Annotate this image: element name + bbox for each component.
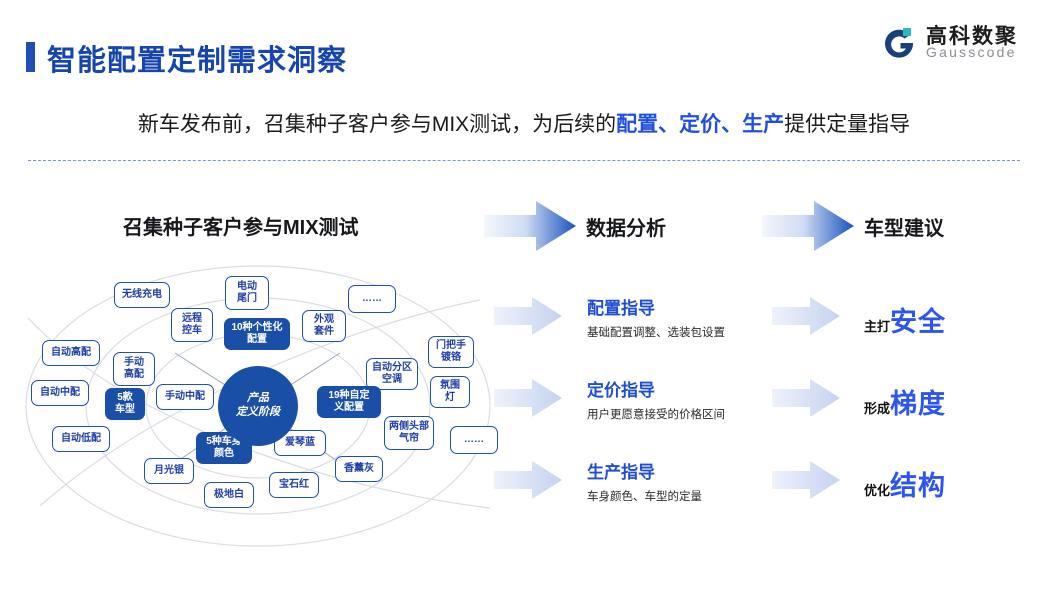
mindmap-node-highlight[interactable]: 5款车型 xyxy=(105,388,145,420)
analysis-row-subtitle: 基础配置调整、选装包设置 xyxy=(587,324,725,340)
row-arrow-4-icon xyxy=(772,296,840,336)
mindmap-node[interactable]: 外观套件 xyxy=(302,310,346,342)
mindmap-node[interactable]: 电动尾门 xyxy=(225,276,269,310)
mindmap-node[interactable]: …… xyxy=(348,285,396,313)
mindmap-hub[interactable]: 产品定义阶段 xyxy=(218,366,298,446)
analysis-row-title: 生产指导 xyxy=(587,464,702,483)
mindmap-node[interactable]: 氛围灯 xyxy=(430,376,470,408)
mindmap-node[interactable]: 极地白 xyxy=(204,482,254,508)
analysis-row-2[interactable]: 定价指导 用户更愿意接受的价格区间 xyxy=(587,382,725,422)
mindmap-node[interactable]: 无线充电 xyxy=(114,282,170,308)
row-arrow-3-icon xyxy=(494,460,562,500)
mindmap-node[interactable]: 自动高配 xyxy=(42,340,100,366)
column-heading-left: 召集种子客户参与MIX测试 xyxy=(123,211,359,240)
suggestion-prefix: 主打 xyxy=(864,319,890,334)
title-accent-bar xyxy=(26,42,35,72)
analysis-row-title: 配置指导 xyxy=(587,300,725,319)
page-title: 智能配置定制需求洞察 xyxy=(47,37,347,79)
mindmap-node[interactable]: 自动低配 xyxy=(52,426,110,452)
suggestion-keyword: 梯度 xyxy=(890,389,946,419)
mindmap-node[interactable]: 手动中配 xyxy=(156,384,214,410)
analysis-row-1[interactable]: 配置指导 基础配置调整、选装包设置 xyxy=(587,300,725,340)
mindmap-node[interactable]: 香薰灰 xyxy=(335,456,383,482)
subtitle-part2: 提供定量指导 xyxy=(784,113,910,136)
brand-logo: 高科数聚 Gausscode xyxy=(880,20,1030,66)
row-arrow-5-icon xyxy=(772,378,840,418)
row-arrow-6-icon xyxy=(772,460,840,500)
column-heading-right: 车型建议 xyxy=(864,212,944,241)
mindmap-node[interactable]: 两侧头部气帘 xyxy=(384,416,434,450)
suggestion-row-1[interactable]: 主打安全 xyxy=(864,300,946,339)
column-heading-mid: 数据分析 xyxy=(586,212,666,241)
mindmap-node-highlight[interactable]: 10种个性化配置 xyxy=(224,318,290,350)
row-arrow-1-icon xyxy=(494,296,562,336)
mindmap-node[interactable]: 远程控车 xyxy=(171,308,213,342)
logo-text-en: Gausscode xyxy=(926,44,1017,60)
hub-line-1: 产品 xyxy=(247,392,269,404)
flow-arrow-2-icon xyxy=(762,200,854,252)
analysis-row-3[interactable]: 生产指导 车身颜色、车型的定量 xyxy=(587,464,702,504)
subtitle-highlight: 配置、定价、生产 xyxy=(616,113,784,136)
subtitle-part1: 新车发布前，召集种子客户参与MIX测试，为后续的 xyxy=(138,113,616,136)
mindmap-node[interactable]: 自动中配 xyxy=(31,380,89,406)
slide-root: 智能配置定制需求洞察 高科数聚 Gausscode 新车发布前，召集种子客户参与… xyxy=(0,0,1048,589)
mindmap-node[interactable]: 门把手镀铬 xyxy=(428,336,474,368)
suggestion-prefix: 优化 xyxy=(864,483,890,498)
analysis-row-title: 定价指导 xyxy=(587,382,725,401)
logo-mark-icon xyxy=(880,24,918,62)
mindmap-node-highlight[interactable]: 19种自定义配置 xyxy=(317,386,381,418)
subtitle: 新车发布前，召集种子客户参与MIX测试，为后续的配置、定价、生产提供定量指导 xyxy=(0,108,1048,138)
flow-arrow-1-icon xyxy=(484,200,576,252)
suggestion-prefix: 形成 xyxy=(864,401,890,416)
hub-line-2: 定义阶段 xyxy=(236,406,280,418)
suggestion-keyword: 结构 xyxy=(890,471,946,501)
mindmap-diagram: 无线充电 电动尾门 …… 远程控车 10种个性化配置 外观套件 门把手镀铬 自动… xyxy=(10,258,510,548)
header-divider xyxy=(28,160,1020,161)
row-arrow-2-icon xyxy=(494,378,562,418)
mindmap-node[interactable]: …… xyxy=(450,426,498,454)
suggestion-keyword: 安全 xyxy=(890,307,946,337)
analysis-row-subtitle: 用户更愿意接受的价格区间 xyxy=(587,406,725,422)
suggestion-row-2[interactable]: 形成梯度 xyxy=(864,382,946,421)
mindmap-node[interactable]: 宝石红 xyxy=(269,472,319,498)
mindmap-node[interactable]: 手动高配 xyxy=(113,352,155,386)
mindmap-node[interactable]: 月光银 xyxy=(144,458,194,484)
analysis-row-subtitle: 车身颜色、车型的定量 xyxy=(587,488,702,504)
suggestion-row-3[interactable]: 优化结构 xyxy=(864,464,946,503)
